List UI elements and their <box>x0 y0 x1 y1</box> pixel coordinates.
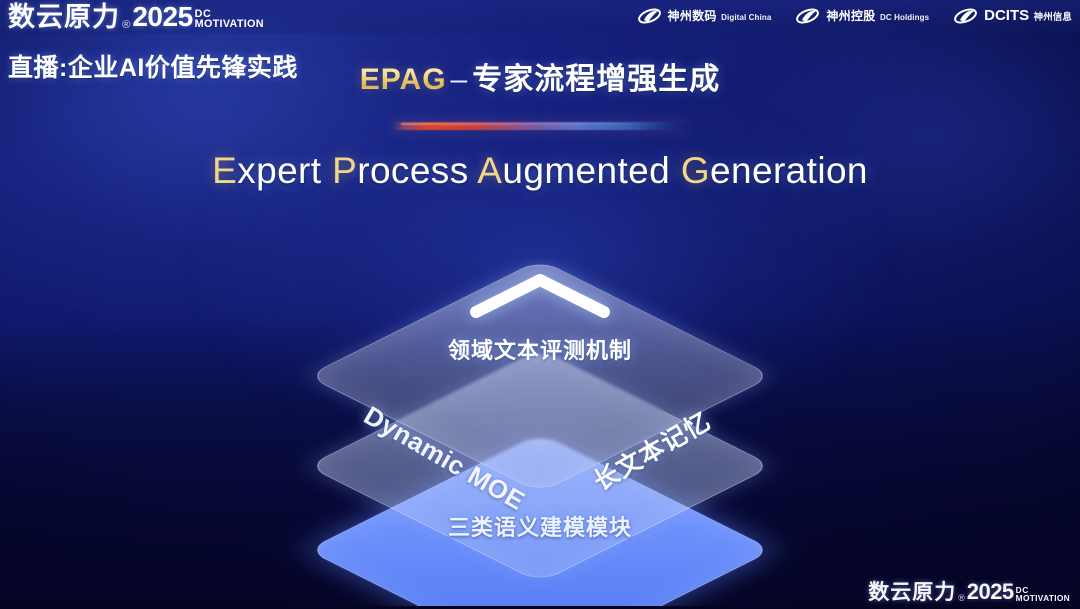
brand-name-cn: 数云原力 <box>8 4 120 31</box>
brand-dc-motivation: DC MOTIVATION <box>195 9 264 32</box>
partner-logo-dcits: DCITS 神州信息 <box>953 5 1072 27</box>
expansion-rest-augmented: ugmented <box>502 150 670 191</box>
brand-motivation: MOTIVATION <box>195 19 264 29</box>
partner-logo-dc-holdings: 神州控股 DC Holdings <box>795 5 929 27</box>
watermark-motivation: MOTIVATION <box>1016 594 1070 602</box>
expansion-cap-e: E <box>212 150 237 191</box>
watermark-registered-mark: ® <box>958 594 965 603</box>
title-acronym: EPAG <box>360 63 447 96</box>
stack-label-bottom: 三类语义建模模块 <box>0 510 1080 542</box>
expansion-rest-expert: xpert <box>237 150 321 191</box>
acronym-expansion: Expert Process Augmented Generation <box>0 150 1080 192</box>
expansion-word-generation: Generation <box>681 150 868 191</box>
expansion-word-expert: Expert <box>212 150 321 191</box>
partner-name-en: DC Holdings <box>880 13 929 22</box>
expansion-word-process: Process <box>332 150 468 191</box>
expansion-cap-p: P <box>332 150 357 191</box>
brand-watermark: 数云原力 ® 2025 DC MOTIVATION <box>868 581 1070 603</box>
brand-registered-mark: ® <box>122 20 130 31</box>
stack-label-top: 领域文本评测机制 <box>0 333 1080 365</box>
stack-plate-top <box>307 259 774 492</box>
stack-layer-top <box>375 211 705 541</box>
partner-logo-text: 神州数码 Digital China <box>668 8 772 25</box>
partner-name-cn: 神州信息 <box>1034 12 1072 23</box>
watermark-name-cn: 数云原力 <box>868 582 956 603</box>
expansion-cap-a: A <box>477 150 502 191</box>
partner-name-cn: 神州控股 <box>826 9 875 23</box>
expansion-cap-g: G <box>681 150 710 191</box>
title-subtitle-cn: 专家流程增强生成 <box>472 63 720 96</box>
swirl-logo-icon <box>795 5 820 27</box>
brand-year: 2025 <box>132 3 192 31</box>
partner-name-cn: 神州数码 <box>668 9 717 23</box>
expansion-rest-process: rocess <box>357 150 468 191</box>
partner-name-en: DCITS <box>984 7 1029 24</box>
partner-logo-digital-china: 神州数码 Digital China <box>637 5 772 27</box>
partner-logo-text: DCITS 神州信息 <box>984 8 1072 25</box>
expansion-word-augmented: Augmented <box>477 150 670 191</box>
watermark-dc-motivation: DC MOTIVATION <box>1016 586 1070 603</box>
title-dash: – <box>451 63 469 96</box>
partner-name-en: Digital China <box>721 13 771 22</box>
page-title: EPAG–专家流程增强生成 <box>0 54 1080 98</box>
watermark-year: 2025 <box>967 581 1014 603</box>
slide-stage: 数云原力 ® 2025 DC MOTIVATION 直播:企业AI价值先锋实践 … <box>0 0 1080 609</box>
expansion-rest-generation: eneration <box>710 150 868 191</box>
brand-logo: 数云原力 ® 2025 DC MOTIVATION <box>8 3 264 31</box>
partner-logo-text: 神州控股 DC Holdings <box>826 8 929 25</box>
title-divider <box>392 122 688 130</box>
partner-logo-group: 神州数码 Digital China 神州控股 DC Holdings <box>637 5 1072 27</box>
swirl-logo-icon <box>953 5 978 27</box>
swirl-logo-icon <box>637 5 662 27</box>
